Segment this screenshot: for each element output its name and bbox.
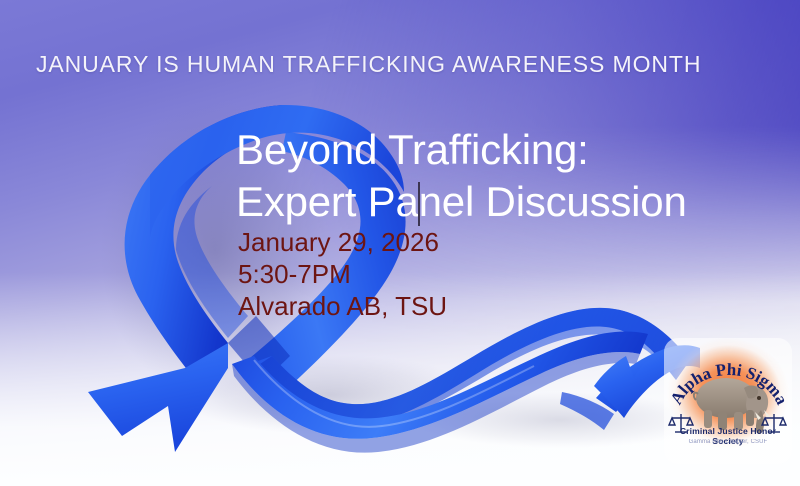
event-title: Beyond Trafficking: Expert Panel Discuss… xyxy=(236,124,756,228)
alpha-phi-sigma-logo: Alpha Phi Sigma Criminal Justice Honor S… xyxy=(664,338,792,464)
event-time: 5:30-7PM xyxy=(238,258,447,290)
awareness-poster: JANUARY IS HUMAN TRAFFICKING AWARENESS M… xyxy=(0,0,800,486)
logo-chapter: Gamma Rho Chapter, CSUF xyxy=(664,439,792,445)
event-title-line-2[interactable]: Expert Panel Discussion xyxy=(236,176,756,228)
page-headline: JANUARY IS HUMAN TRAFFICKING AWARENESS M… xyxy=(36,51,701,78)
event-location: Alvarado AB, TSU xyxy=(238,290,447,322)
event-details: January 29, 2026 5:30-7PM Alvarado AB, T… xyxy=(238,226,447,322)
event-title-line-2-before-caret: Expert Pa xyxy=(236,178,419,225)
event-title-line-2-after-caret: nel Discussion xyxy=(419,178,687,225)
event-date: January 29, 2026 xyxy=(238,226,447,258)
event-title-line-1: Beyond Trafficking: xyxy=(236,124,756,176)
